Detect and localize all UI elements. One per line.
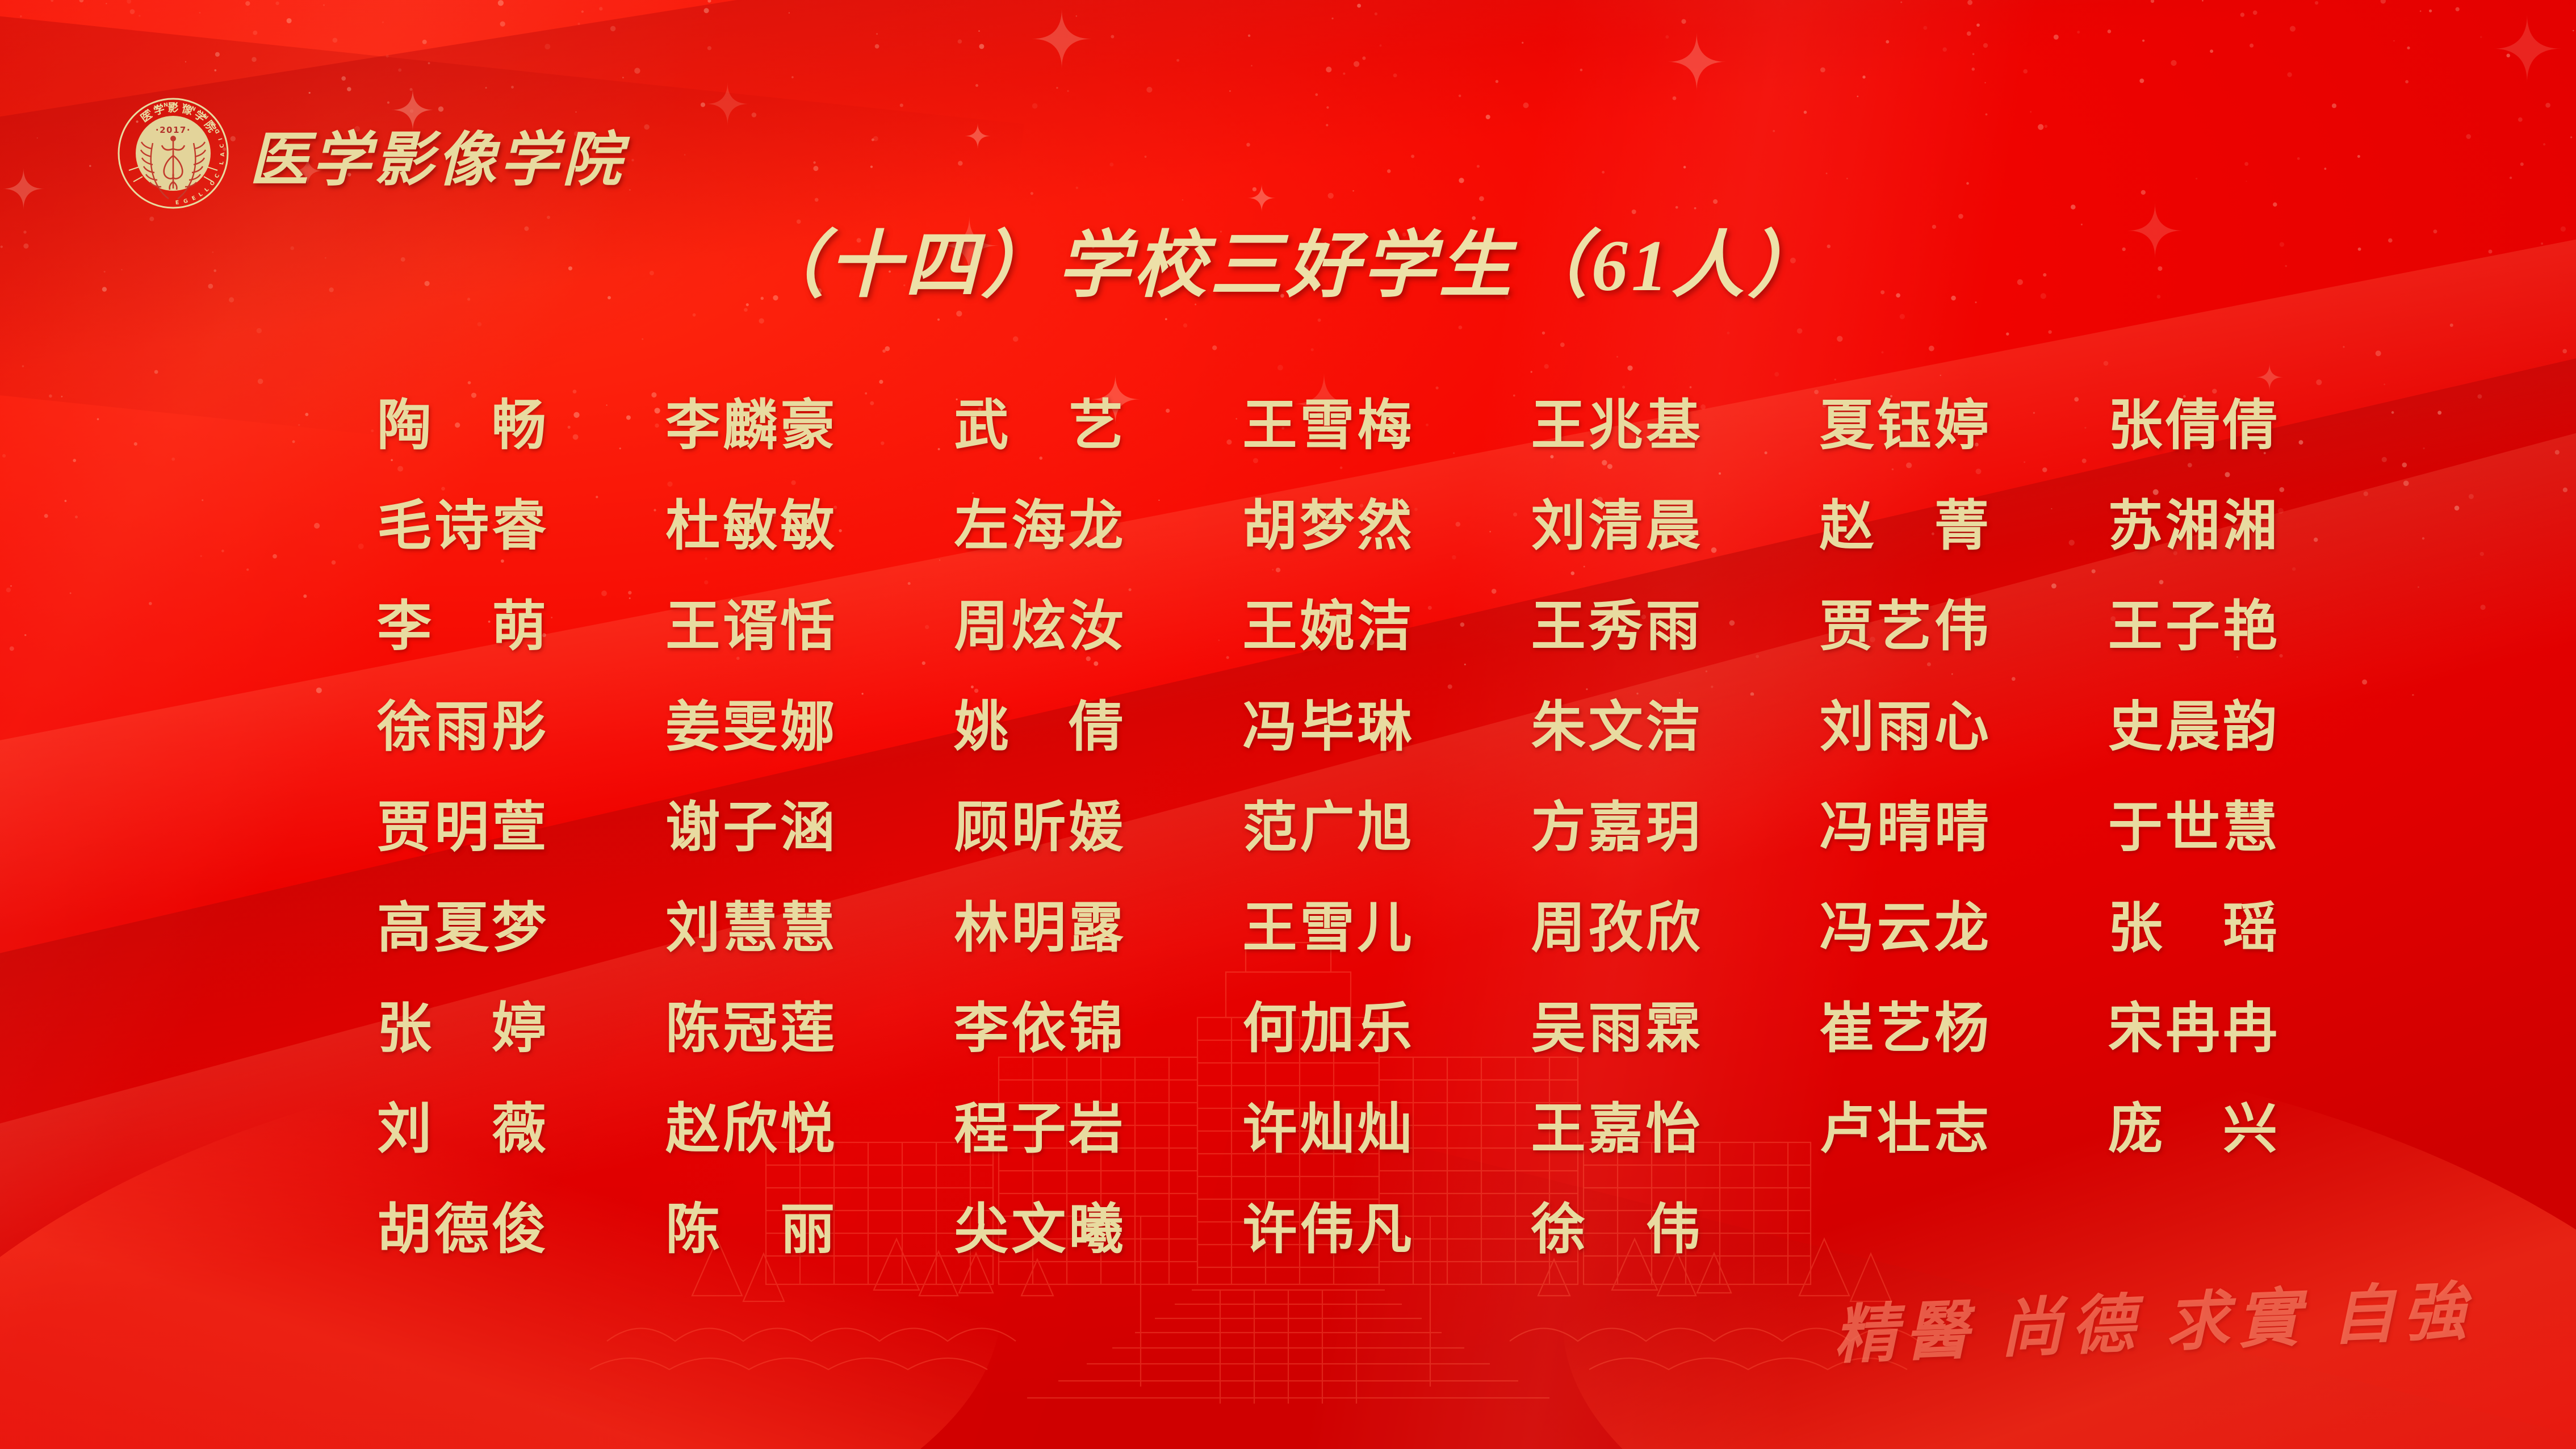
honoree-name: 王雪儿 [1183, 901, 1472, 955]
honoree-name: 赵欣悦 [606, 1102, 895, 1156]
honoree-name: 张瑶 [2049, 901, 2338, 955]
honoree-name: 林明露 [895, 901, 1183, 955]
honoree-name-glyphs: 吴雨霖 [1531, 1001, 1702, 1056]
honoree-name-glyphs: 徐雨彤 [377, 700, 547, 754]
honoree-name: 周孜欣 [1472, 901, 1761, 955]
honoree-name: 高夏梦 [318, 901, 606, 955]
honoree-name-glyphs: 武艺 [954, 398, 1124, 453]
honoree-name-glyphs: 周孜欣 [1531, 901, 1702, 955]
svg-text:A: A [220, 152, 226, 157]
honoree-name-glyphs: 胡梦然 [1242, 499, 1413, 553]
honor-roll-banner: 医 学 影 像 学 院 W A N N A N M E D I C A [0, 0, 2576, 1449]
honoree-name: 朱文洁 [1472, 700, 1761, 754]
honoree-name-glyphs: 冯晴晴 [1820, 800, 1990, 855]
honoree-name: 徐雨彤 [318, 700, 606, 754]
honoree-name-glyphs: 杜敏敏 [665, 499, 836, 553]
honoree-name-glyphs: 陶畅 [377, 398, 547, 453]
name-row: 李萌王谞恬周炫汝王婉洁王秀雨贾艺伟王子艳 [318, 576, 2338, 676]
honoree-name-glyphs: 李依锦 [954, 1001, 1124, 1056]
name-row: 毛诗睿杜敏敏左海龙胡梦然刘清晨赵菁苏湘湘 [318, 475, 2338, 576]
honoree-name-glyphs: 方嘉玥 [1531, 800, 1702, 855]
honoree-name: 史晨韵 [2049, 700, 2338, 754]
honoree-name: 王谞恬 [606, 599, 895, 654]
honoree-name: 夏钰婷 [1761, 398, 2049, 453]
honoree-name: 于世慧 [2049, 800, 2338, 855]
honoree-name-glyphs: 姜雯娜 [665, 700, 836, 754]
honoree-name-glyphs: 王婉洁 [1242, 599, 1413, 654]
honoree-name-glyphs: 许伟凡 [1242, 1202, 1413, 1257]
honoree-name: 范广旭 [1183, 800, 1472, 855]
svg-text:L: L [198, 191, 204, 198]
honoree-name-glyphs: 程子岩 [954, 1102, 1124, 1156]
honoree-name-glyphs: 胡德俊 [377, 1202, 547, 1257]
honoree-name: 王子艳 [2049, 599, 2338, 654]
honoree-name: 崔艺杨 [1761, 1001, 2049, 1056]
honoree-name-glyphs: 卢壮志 [1820, 1102, 1990, 1156]
honoree-name-glyphs: 庞兴 [2108, 1102, 2278, 1156]
honoree-name-glyphs: 王秀雨 [1531, 599, 1702, 654]
honoree-name-glyphs: 贾明萱 [377, 800, 547, 855]
honoree-name-glyphs: 于世慧 [2108, 800, 2278, 855]
honoree-name: 王秀雨 [1472, 599, 1761, 654]
honoree-name: 贾艺伟 [1761, 599, 2049, 654]
name-row: 张婷陈冠莲李依锦何加乐吴雨霖崔艺杨宋冉冉 [318, 978, 2338, 1078]
honoree-name: 张婷 [318, 1001, 606, 1056]
honoree-name-glyphs: 王谞恬 [665, 599, 836, 654]
honoree-name-glyphs: 尖文曦 [954, 1202, 1124, 1257]
name-row: 徐雨彤姜雯娜姚倩冯毕琳朱文洁刘雨心史晨韵 [318, 676, 2338, 777]
honoree-name: 冯毕琳 [1183, 700, 1472, 754]
honoree-name-glyphs: 刘清晨 [1531, 499, 1702, 553]
honoree-name-glyphs: 许灿灿 [1242, 1102, 1413, 1156]
honoree-name-glyphs: 苏湘湘 [2108, 499, 2278, 553]
honoree-name: 吴雨霖 [1472, 1001, 1761, 1056]
honoree-name: 姜雯娜 [606, 700, 895, 754]
honoree-name: 苏湘湘 [2049, 499, 2338, 553]
honoree-name-glyphs: 朱文洁 [1531, 700, 1702, 754]
honoree-name-glyphs: 王嘉怡 [1531, 1102, 1702, 1156]
honoree-name-glyphs: 刘雨心 [1820, 700, 1990, 754]
honoree-name-glyphs: 贾艺伟 [1820, 599, 1990, 654]
honoree-name: 陈丽 [606, 1202, 895, 1257]
honoree-name-grid: 陶畅李麟豪武艺王雪梅王兆基夏钰婷张倩倩毛诗睿杜敏敏左海龙胡梦然刘清晨赵菁苏湘湘李… [318, 375, 2338, 1279]
honoree-name: 冯云龙 [1761, 901, 2049, 955]
honoree-name: 胡德俊 [318, 1202, 606, 1257]
honoree-name: 顾昕媛 [895, 800, 1183, 855]
honoree-name: 谢子涵 [606, 800, 895, 855]
honoree-name-glyphs: 宋冉冉 [2108, 1001, 2278, 1056]
honoree-name: 陈冠莲 [606, 1001, 895, 1056]
honoree-name-glyphs: 刘慧慧 [665, 901, 836, 955]
honoree-name-glyphs: 顾昕媛 [954, 800, 1124, 855]
honoree-name: 卢壮志 [1761, 1102, 2049, 1156]
honoree-name-glyphs: 崔艺杨 [1820, 1001, 1990, 1056]
college-name: 医学影像学院 [249, 131, 625, 190]
honoree-name-glyphs: 陈冠莲 [665, 1001, 836, 1056]
honoree-name-glyphs: 林明露 [954, 901, 1124, 955]
honoree-name: 程子岩 [895, 1102, 1183, 1156]
honoree-name-glyphs: 冯毕琳 [1242, 700, 1413, 754]
honoree-name: 李萌 [318, 599, 606, 654]
honoree-name: 王嘉怡 [1472, 1102, 1761, 1156]
honoree-name: 宋冉冉 [2049, 1001, 2338, 1056]
honoree-name: 赵菁 [1761, 499, 2049, 553]
honoree-name: 刘清晨 [1472, 499, 1761, 553]
honoree-name: 左海龙 [895, 499, 1183, 553]
honoree-name: 周炫汝 [895, 599, 1183, 654]
honoree-name: 王兆基 [1472, 398, 1761, 453]
honoree-name-glyphs: 刘薇 [377, 1102, 547, 1156]
honoree-name: 贾明萱 [318, 800, 606, 855]
honoree-name-glyphs: 赵欣悦 [665, 1102, 836, 1156]
honoree-name: 何加乐 [1183, 1001, 1472, 1056]
honoree-name-glyphs: 周炫汝 [954, 599, 1124, 654]
honoree-name-glyphs: 张倩倩 [2108, 398, 2278, 453]
svg-text:C: C [219, 143, 225, 149]
name-row: 胡德俊陈丽尖文曦许伟凡徐伟 [318, 1179, 2338, 1279]
honoree-name: 徐伟 [1472, 1202, 1761, 1257]
svg-text:G: G [183, 198, 189, 205]
honoree-name-glyphs: 李麟豪 [665, 398, 836, 453]
honoree-name: 张倩倩 [2049, 398, 2338, 453]
honoree-name-glyphs: 何加乐 [1242, 1001, 1413, 1056]
svg-text:A: A [181, 101, 187, 108]
svg-text:N: N [162, 100, 169, 107]
svg-text:E: E [175, 199, 179, 206]
honoree-name: 毛诗睿 [318, 499, 606, 553]
honoree-name: 胡梦然 [1183, 499, 1472, 553]
honoree-name-glyphs: 左海龙 [954, 499, 1124, 553]
honoree-name: 尖文曦 [895, 1202, 1183, 1257]
honoree-name-glyphs: 王子艳 [2108, 599, 2278, 654]
svg-text:N: N [172, 100, 177, 107]
honoree-name: 庞兴 [2049, 1102, 2338, 1156]
honoree-name-glyphs: 王雪梅 [1242, 398, 1413, 453]
honoree-name-glyphs: 谢子涵 [665, 800, 836, 855]
honoree-name-glyphs: 赵菁 [1820, 499, 1990, 553]
name-row: 陶畅李麟豪武艺王雪梅王兆基夏钰婷张倩倩 [318, 375, 2338, 475]
honoree-name-glyphs: 徐伟 [1531, 1202, 1702, 1257]
honoree-name: 武艺 [895, 398, 1183, 453]
honoree-name: 王雪梅 [1183, 398, 1472, 453]
honoree-name: 陶畅 [318, 398, 606, 453]
svg-text:E: E [191, 195, 197, 202]
page-title: （十四）学校三好学生（61人） [0, 226, 2576, 306]
honoree-name-glyphs: 高夏梦 [377, 901, 547, 955]
svg-text:L: L [203, 186, 211, 194]
svg-text:·2017·: ·2017· [156, 125, 191, 135]
honoree-name-glyphs: 冯云龙 [1820, 901, 1990, 955]
logo-block: 医 学 影 像 学 院 W A N N A N M E D I C A [116, 97, 625, 210]
honoree-name: 刘慧慧 [606, 901, 895, 955]
svg-text:I: I [217, 137, 224, 141]
honoree-name-glyphs: 夏钰婷 [1820, 398, 1990, 453]
honoree-name: 李麟豪 [606, 398, 895, 453]
svg-text:C: C [213, 173, 221, 179]
name-row: 高夏梦刘慧慧林明露王雪儿周孜欣冯云龙张瑶 [318, 877, 2338, 978]
honoree-name-glyphs: 史晨韵 [2108, 700, 2278, 754]
honoree-name-glyphs: 范广旭 [1242, 800, 1413, 855]
honoree-name-glyphs: 毛诗睿 [377, 499, 547, 553]
honoree-name: 王婉洁 [1183, 599, 1472, 654]
svg-text:L: L [219, 160, 225, 165]
honoree-name: 方嘉玥 [1472, 800, 1761, 855]
honoree-name: 刘薇 [318, 1102, 606, 1156]
name-row: 贾明萱谢子涵顾昕媛范广旭方嘉玥冯晴晴于世慧 [318, 777, 2338, 877]
honoree-name: 姚倩 [895, 700, 1183, 754]
honoree-name: 李依锦 [895, 1001, 1183, 1056]
honoree-name: 许伟凡 [1183, 1202, 1472, 1257]
honoree-name-glyphs: 张瑶 [2108, 901, 2278, 955]
honoree-name-glyphs: 姚倩 [954, 700, 1124, 754]
honoree-name-glyphs: 张婷 [377, 1001, 547, 1056]
honoree-name-glyphs: 王雪儿 [1242, 901, 1413, 955]
honoree-name: 冯晴晴 [1761, 800, 2049, 855]
honoree-name: 刘雨心 [1761, 700, 2049, 754]
honoree-name-glyphs: 王兆基 [1531, 398, 1702, 453]
honoree-name-glyphs: 李萌 [377, 599, 547, 654]
honoree-name: 杜敏敏 [606, 499, 895, 553]
name-row: 刘薇赵欣悦程子岩许灿灿王嘉怡卢壮志庞兴 [318, 1078, 2338, 1179]
honoree-name: 许灿灿 [1183, 1102, 1472, 1156]
honoree-name-glyphs: 陈丽 [665, 1202, 836, 1257]
college-emblem-icon: 医 学 影 像 学 院 W A N N A N M E D I C A [116, 97, 230, 210]
